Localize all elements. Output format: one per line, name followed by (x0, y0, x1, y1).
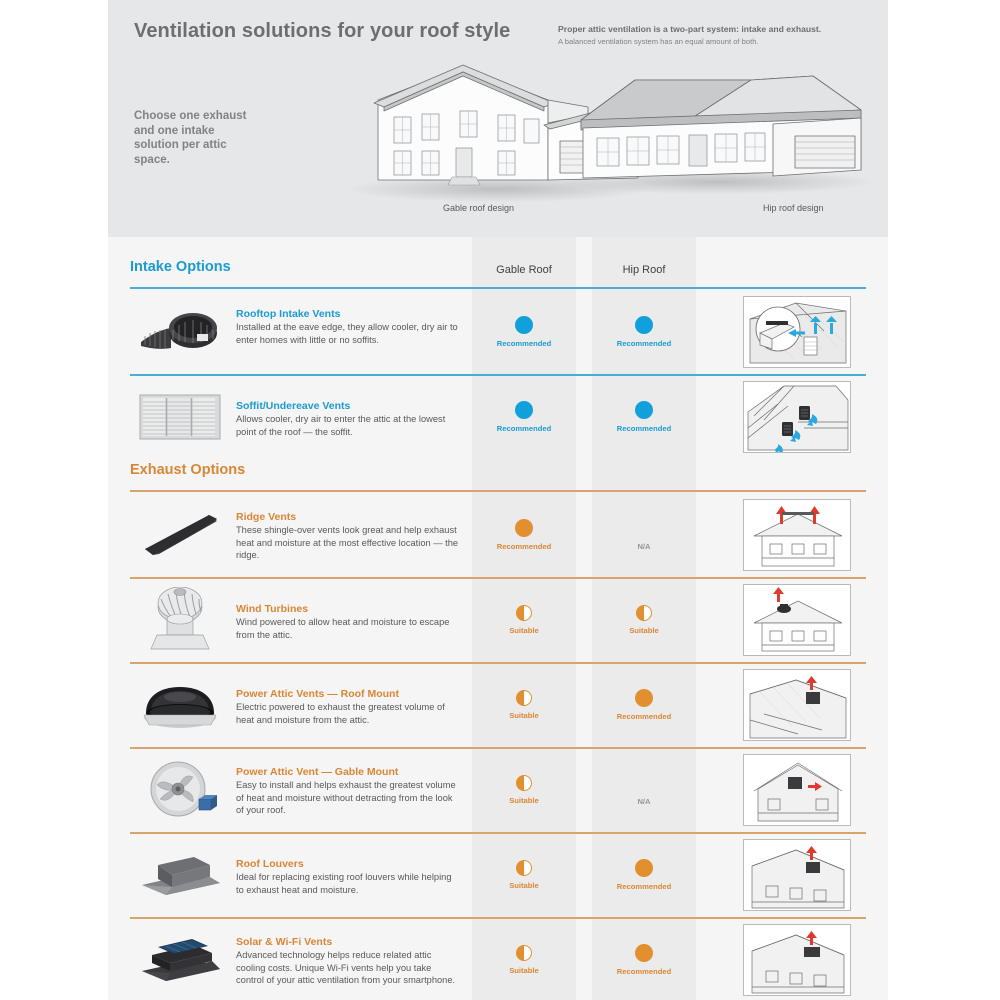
table-row[interactable]: Power Attic Vent — Gable Mount Easy to i… (108, 747, 888, 832)
product-thumbnail (130, 747, 230, 832)
row-description: Ideal for replacing existing roof louver… (236, 871, 461, 896)
status-cell-gable: Suitable (472, 775, 576, 805)
row-description: Electric powered to exhaust the greatest… (236, 701, 461, 726)
caption-hip-roof: Hip roof design (763, 203, 824, 213)
table-row[interactable]: Ridge Vents These shingle-over vents loo… (108, 492, 888, 577)
diagram-illustration (728, 492, 866, 577)
roof-mount-power-vent-diagram-icon (744, 670, 851, 741)
table-row[interactable]: Power Attic Vents — Roof Mount Electric … (108, 662, 888, 747)
status-cell-hip: N/A (592, 519, 696, 551)
diagram-illustration (728, 374, 866, 459)
status-cell-hip: Recommended (592, 859, 696, 891)
row-copy: Roof Louvers Ideal for replacing existin… (236, 857, 461, 896)
row-title: Power Attic Vent — Gable Mount (236, 765, 461, 779)
status-badge: N/A (592, 542, 696, 551)
status-cell-hip: N/A (592, 774, 696, 806)
row-title: Soffit/Undereave Vents (236, 399, 461, 413)
row-copy: Solar & Wi-Fi Vents Advanced technology … (236, 935, 461, 987)
product-thumbnail (130, 917, 230, 1000)
status-cell-hip: Suitable (592, 605, 696, 635)
product-thumbnail (130, 662, 230, 747)
row-description: Wind powered to allow heat and moisture … (236, 616, 461, 641)
row-description: These shingle-over vents look great and … (236, 524, 461, 562)
status-cell-gable: Suitable (472, 605, 576, 635)
diagram-illustration (728, 832, 866, 917)
status-badge: Recommended (592, 967, 696, 976)
status-cell-gable: Suitable (472, 860, 576, 890)
ridge-vent-strip-icon (137, 511, 223, 559)
suitable-half-circle-icon (516, 775, 532, 791)
gable-mount-power-vent-diagram-icon (744, 755, 851, 826)
status-cell-gable: Recommended (472, 519, 576, 551)
note-line-1: Proper attic ventilation is a two-part s… (558, 23, 868, 36)
row-title: Wind Turbines (236, 602, 461, 616)
row-title: Solar & Wi-Fi Vents (236, 935, 461, 949)
row-title: Ridge Vents (236, 510, 461, 524)
product-thumbnail (130, 577, 230, 662)
suitable-half-circle-icon (516, 605, 532, 621)
ventilation-solutions-infographic: Ventilation solutions for your roof styl… (0, 0, 1000, 1000)
status-badge: Suitable (592, 626, 696, 635)
status-badge: Recommended (592, 882, 696, 891)
no-icon-placeholder (635, 519, 653, 537)
rooftop-intake-vent-roll-icon (137, 306, 223, 358)
solar-wifi-vent-icon (136, 933, 224, 987)
row-copy: Soffit/Undereave Vents Allows cooler, dr… (236, 399, 461, 438)
section-header-exhaust: Exhaust Options (130, 462, 866, 492)
row-title: Rooftop Intake Vents (236, 307, 461, 321)
status-badge: Recommended (472, 339, 576, 348)
row-description: Installed at the eave edge, they allow c… (236, 321, 461, 346)
suitable-half-circle-icon (516, 945, 532, 961)
status-cell-gable: Recommended (472, 401, 576, 433)
recommended-circle-icon (635, 859, 653, 877)
hero-banner: Ventilation solutions for your roof styl… (108, 0, 888, 237)
table-row[interactable]: Wind Turbines Wind powered to allow heat… (108, 577, 888, 662)
table-row[interactable]: Rooftop Intake Vents Installed at the ea… (108, 289, 888, 374)
row-copy: Power Attic Vents — Roof Mount Electric … (236, 687, 461, 726)
status-cell-hip: Recommended (592, 689, 696, 721)
diagram-illustration (728, 289, 866, 374)
choose-one-instruction: Choose one exhaust and one intake soluti… (134, 109, 254, 167)
section-label-exhaust: Exhaust Options (130, 462, 245, 478)
caption-gable-roof: Gable roof design (443, 203, 514, 213)
recommended-circle-icon (515, 316, 533, 334)
turbine-exhaust-diagram-icon (744, 585, 851, 656)
hip-house-illustration (563, 58, 873, 188)
diagram-illustration (728, 577, 866, 662)
product-thumbnail (130, 289, 230, 374)
status-cell-gable: Suitable (472, 945, 576, 975)
status-badge: Suitable (472, 711, 576, 720)
row-copy: Rooftop Intake Vents Installed at the ea… (236, 307, 461, 346)
status-cell-gable: Suitable (472, 690, 576, 720)
recommended-circle-icon (515, 519, 533, 537)
row-description: Easy to install and helps exhaust the gr… (236, 779, 461, 817)
options-table: Intake Options Gable Roof Hip Roof (108, 237, 888, 1000)
solar-vent-diagram-icon (744, 925, 851, 996)
page-title: Ventilation solutions for your roof styl… (134, 20, 510, 43)
row-description: Allows cooler, dry air to enter the atti… (236, 413, 461, 438)
section-label-intake: Intake Options (130, 259, 231, 275)
suitable-half-circle-icon (636, 605, 652, 621)
status-badge: Suitable (472, 796, 576, 805)
roof-louver-icon (136, 849, 224, 901)
product-thumbnail (130, 832, 230, 917)
status-badge: Suitable (472, 626, 576, 635)
row-copy: Ridge Vents These shingle-over vents loo… (236, 510, 461, 562)
product-thumbnail (130, 492, 230, 577)
row-description: Advanced technology helps reduce related… (236, 949, 461, 987)
status-cell-gable: Recommended (472, 316, 576, 348)
recommended-circle-icon (635, 316, 653, 334)
wind-turbine-icon (145, 587, 215, 653)
diagram-illustration (728, 662, 866, 747)
status-badge: Suitable (472, 881, 576, 890)
product-thumbnail (130, 374, 230, 459)
recommended-circle-icon (515, 401, 533, 419)
row-title: Power Attic Vents — Roof Mount (236, 687, 461, 701)
soffit-louver-panel-icon (137, 392, 223, 442)
table-row[interactable]: Solar & Wi-Fi Vents Advanced technology … (108, 917, 888, 1000)
recommended-circle-icon (635, 944, 653, 962)
status-cell-hip: Recommended (592, 944, 696, 976)
status-badge: Recommended (592, 712, 696, 721)
gable-mount-fan-icon (143, 759, 217, 821)
recommended-circle-icon (635, 401, 653, 419)
table-row[interactable]: Roof Louvers Ideal for replacing existin… (108, 832, 888, 917)
status-badge: Recommended (592, 424, 696, 433)
status-badge: Recommended (472, 424, 576, 433)
row-copy: Power Attic Vent — Gable Mount Easy to i… (236, 765, 461, 817)
ridge-exhaust-diagram-icon (744, 500, 851, 571)
suitable-half-circle-icon (516, 690, 532, 706)
no-icon-placeholder (635, 774, 653, 792)
soffit-airflow-diagram-icon (744, 382, 851, 453)
eave-edge-airflow-diagram-icon (744, 297, 851, 368)
table-row[interactable]: Soffit/Undereave Vents Allows cooler, dr… (108, 374, 888, 459)
diagram-illustration (728, 917, 866, 1000)
status-badge: Suitable (472, 966, 576, 975)
row-copy: Wind Turbines Wind powered to allow heat… (236, 602, 461, 641)
status-cell-hip: Recommended (592, 401, 696, 433)
power-attic-vent-roof-icon (137, 679, 223, 731)
roof-louver-diagram-icon (744, 840, 851, 911)
status-badge: Recommended (592, 339, 696, 348)
recommended-circle-icon (635, 689, 653, 707)
status-cell-hip: Recommended (592, 316, 696, 348)
status-badge: N/A (592, 797, 696, 806)
status-badge: Recommended (472, 542, 576, 551)
column-header-hip-roof: Hip Roof (592, 264, 696, 276)
suitable-half-circle-icon (516, 860, 532, 876)
row-title: Roof Louvers (236, 857, 461, 871)
column-header-gable-roof: Gable Roof (472, 264, 576, 276)
diagram-illustration (728, 747, 866, 832)
